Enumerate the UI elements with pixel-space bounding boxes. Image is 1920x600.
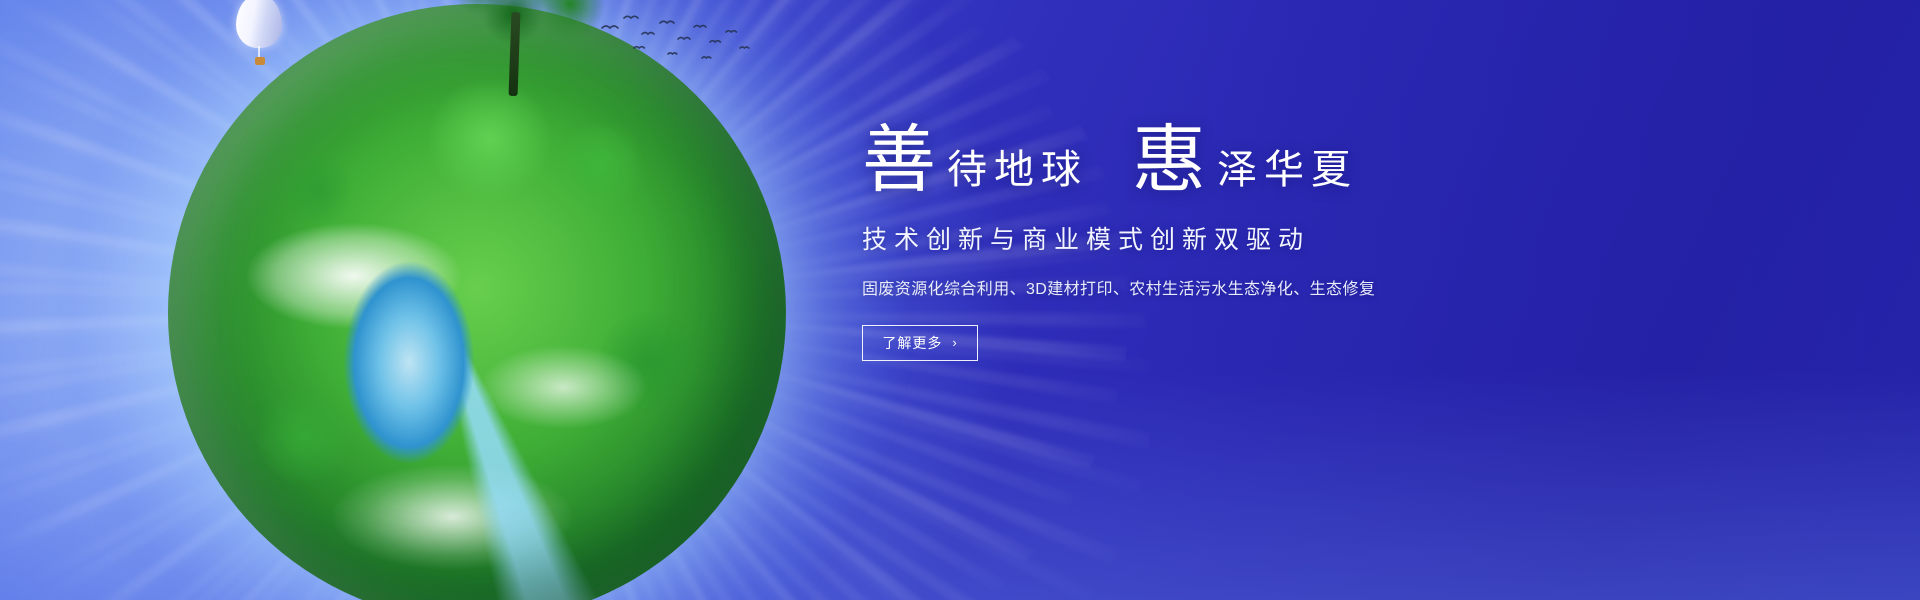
banner-description: 固废资源化综合利用、3D建材打印、农村生活污水生态净化、生态修复	[862, 275, 1562, 299]
rim-forest-fringe	[168, 4, 786, 600]
headline-char-2: 惠	[1132, 124, 1207, 198]
balloon-rope	[258, 46, 260, 59]
tree-trunk	[509, 12, 521, 96]
chevron-right-icon: ›	[952, 336, 957, 349]
headline-char-1: 善	[862, 124, 937, 198]
hot-air-balloon-icon	[236, 0, 282, 70]
headline-rest-1: 待地球	[947, 150, 1088, 198]
rim-forest	[168, 4, 786, 600]
planet-atmosphere-glow	[58, 0, 898, 600]
headline: 善 待地球 惠 泽华夏	[862, 124, 1562, 198]
headline-rest-2: 泽华夏	[1217, 150, 1358, 198]
banner-content: 善 待地球 惠 泽华夏 技术创新与商业模式创新双驱动 固废资源化综合利用、3D建…	[862, 124, 1562, 361]
banner-subtitle: 技术创新与商业模式创新双驱动	[862, 220, 1562, 256]
hero-banner: 善 待地球 惠 泽华夏 技术创新与商业模式创新双驱动 固废资源化综合利用、3D建…	[0, 0, 1920, 600]
balloon-envelope	[236, 0, 282, 48]
balloon-basket	[255, 57, 265, 65]
bird-flock-icon	[598, 8, 758, 68]
bottom-haze	[0, 370, 1920, 600]
planet-sphere	[168, 4, 786, 600]
learn-more-button[interactable]: 了解更多 ›	[862, 325, 978, 361]
hero-tree-icon	[418, 0, 608, 76]
earth-illustration	[128, 0, 828, 600]
tree-canopy	[418, 0, 608, 44]
learn-more-label: 了解更多	[882, 333, 942, 353]
